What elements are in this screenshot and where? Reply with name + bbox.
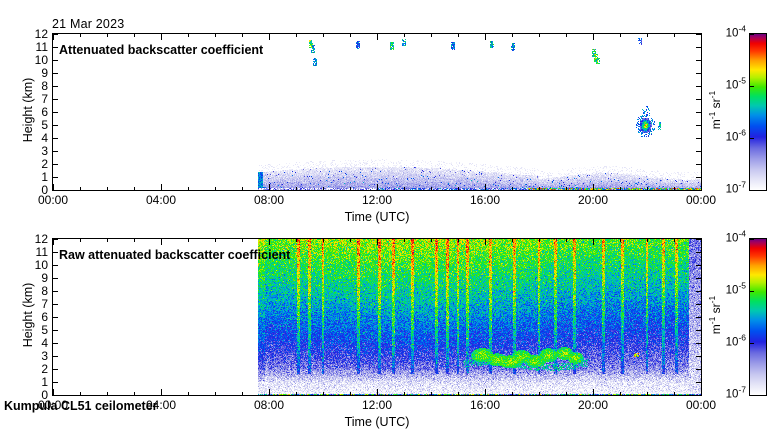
colorbar-tick-label: 10-4 — [714, 29, 746, 40]
x-tick-label: 00:00 — [38, 194, 68, 206]
colorbar-tick-label: 10-4 — [714, 234, 746, 245]
x-tick-label: 20:00 — [578, 399, 608, 411]
colorbar-top — [749, 33, 767, 191]
x-tick-label: 12:00 — [362, 399, 392, 411]
x-tick-label: 00:00 — [686, 194, 716, 206]
y-tick-label: 2 — [20, 363, 48, 375]
y-tick-label: 1 — [20, 376, 48, 388]
x-axis-title-top: Time (UTC) — [345, 210, 410, 224]
y-axis-title-top: Height (km) — [21, 68, 35, 152]
panel-attenuated-backscatter: Attenuated backscatter coefficient — [52, 33, 702, 191]
date-label: 21 Mar 2023 — [52, 17, 124, 31]
x-tick-label: 08:00 — [254, 194, 284, 206]
colorbar-tick-label: 10-7 — [714, 185, 746, 196]
colorbar-gradient-bottom — [750, 239, 766, 395]
colorbar-gradient-top — [750, 34, 766, 190]
heatmap-canvas-bottom — [53, 239, 701, 395]
y-tick-label: 0 — [20, 184, 48, 196]
x-tick-label: 16:00 — [470, 399, 500, 411]
footer-instrument-label: Kumpula CL51 ceilometer — [4, 399, 158, 413]
y-tick-label: 10 — [20, 259, 48, 271]
x-tick-label: 08:00 — [254, 399, 284, 411]
y-tick-label: 12 — [20, 233, 48, 245]
panel-title-top: Attenuated backscatter coefficient — [59, 44, 263, 57]
x-axis-title-bottom: Time (UTC) — [345, 415, 410, 429]
y-tick-label: 11 — [20, 41, 48, 53]
x-tick-label: 20:00 — [578, 194, 608, 206]
y-tick-label: 1 — [20, 171, 48, 183]
x-tick-label: 16:00 — [470, 194, 500, 206]
x-tick-label: 04:00 — [146, 194, 176, 206]
x-tick-label: 12:00 — [362, 194, 392, 206]
ceilometer-quicklook-figure: 21 Mar 2023 Attenuated backscatter coeff… — [0, 0, 780, 420]
y-axis-title-bottom: Height (km) — [21, 273, 35, 357]
heatmap-canvas-top — [53, 34, 701, 190]
colorbar-tick-label: 10-7 — [714, 390, 746, 401]
y-tick-label: 11 — [20, 246, 48, 258]
panel-title-bottom: Raw attenuated backscatter coefficient — [59, 249, 290, 262]
y-tick-label: 2 — [20, 158, 48, 170]
colorbar-bottom — [749, 238, 767, 396]
y-tick-label: 10 — [20, 54, 48, 66]
y-tick-label: 12 — [20, 28, 48, 40]
panel-raw-attenuated-backscatter: Raw attenuated backscatter coefficient — [52, 238, 702, 396]
x-tick-label: 00:00 — [686, 399, 716, 411]
colorbar-unit-bottom: m-1 sr-1 — [709, 285, 723, 345]
colorbar-unit-top: m-1 sr-1 — [709, 80, 723, 140]
